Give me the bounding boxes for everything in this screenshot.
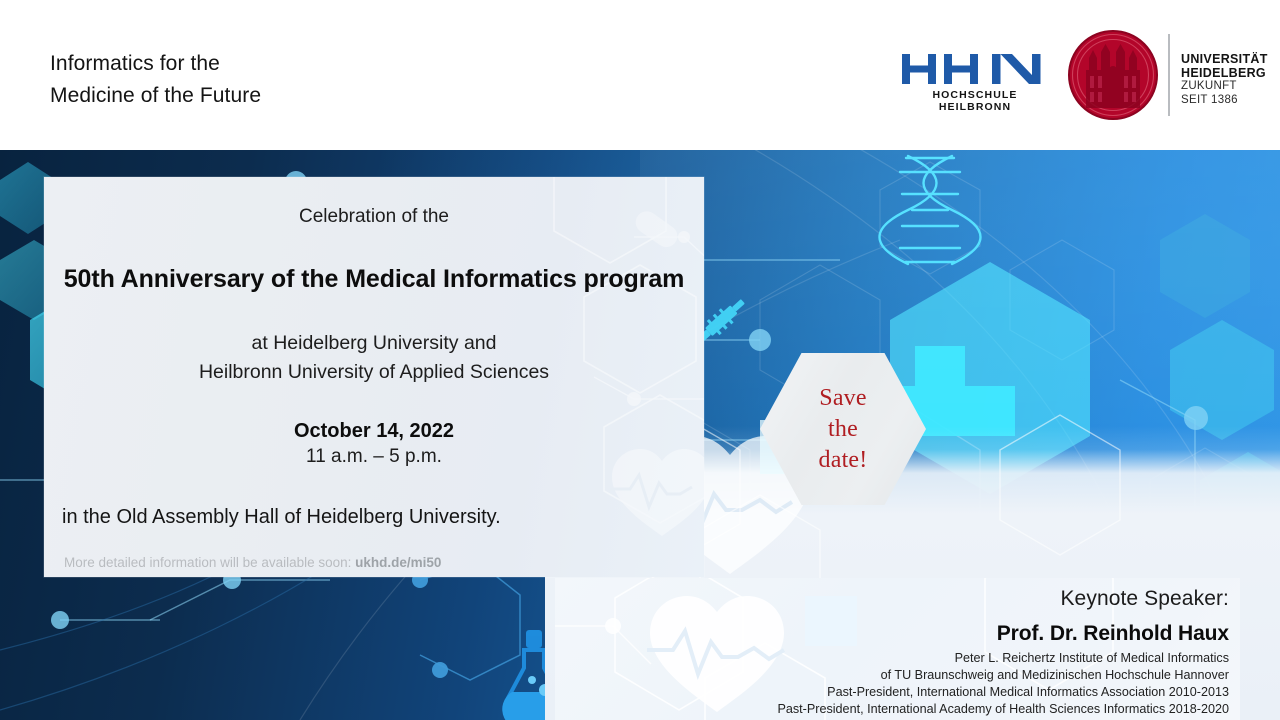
hhn-wordmark: HOCHSCHULE HEILBRONN bbox=[898, 89, 1052, 113]
uhd-divider bbox=[1168, 34, 1170, 116]
uhd-logo: UNIVERSITÄT HEIDELBERG ZUKUNFT SEIT 1386 bbox=[1068, 30, 1258, 120]
uhd-line-4: SEIT 1386 bbox=[1181, 94, 1268, 108]
uhd-line-1: UNIVERSITÄT bbox=[1181, 52, 1268, 66]
slide-header: Informatics for the Medicine of the Futu… bbox=[0, 0, 1280, 150]
keynote-panel: Keynote Speaker: Prof. Dr. Reinhold Haux… bbox=[555, 578, 1240, 720]
uhd-line-3: ZUKUNFT bbox=[1181, 80, 1268, 94]
more-info-url[interactable]: ukhd.de/mi50 bbox=[355, 555, 441, 570]
anniversary-headline: 50th Anniversary of the Medical Informat… bbox=[44, 265, 704, 294]
hhn-logo: HOCHSCHULE HEILBRONN bbox=[900, 52, 1050, 112]
uhd-wordmark: UNIVERSITÄT HEIDELBERG ZUKUNFT SEIT 1386 bbox=[1181, 52, 1268, 107]
page-title: Informatics for the Medicine of the Futu… bbox=[50, 48, 261, 112]
more-info-note: More detailed information will be availa… bbox=[44, 555, 704, 570]
hhn-mark-icon bbox=[900, 52, 1050, 86]
uhd-seal-icon bbox=[1068, 30, 1158, 120]
event-date: October 14, 2022 bbox=[44, 420, 704, 443]
speaker-1-affiliation: Peter L. Reichertz Institute of Medical … bbox=[555, 650, 1229, 718]
uhd-line-2: HEIDELBERG bbox=[1181, 66, 1268, 80]
institutions: at Heidelberg University and Heilbronn U… bbox=[44, 329, 704, 387]
keynote-content: Keynote Speaker: Prof. Dr. Reinhold Haux… bbox=[555, 587, 1240, 720]
event-venue: in the Old Assembly Hall of Heidelberg U… bbox=[44, 506, 704, 529]
event-info-card: Celebration of the 50th Anniversary of t… bbox=[44, 177, 704, 577]
speaker-1-name: Prof. Dr. Reinhold Haux bbox=[555, 622, 1229, 646]
more-info-prefix: More detailed information will be availa… bbox=[64, 555, 355, 570]
slide-root: Informatics for the Medicine of the Futu… bbox=[0, 0, 1280, 720]
info-card-content: Celebration of the 50th Anniversary of t… bbox=[44, 206, 704, 570]
save-the-date-text: Save the date! bbox=[819, 383, 868, 476]
keynote-heading: Keynote Speaker: bbox=[555, 587, 1229, 611]
event-time: 11 a.m. – 5 p.m. bbox=[44, 446, 704, 468]
celebration-label: Celebration of the bbox=[44, 206, 704, 228]
